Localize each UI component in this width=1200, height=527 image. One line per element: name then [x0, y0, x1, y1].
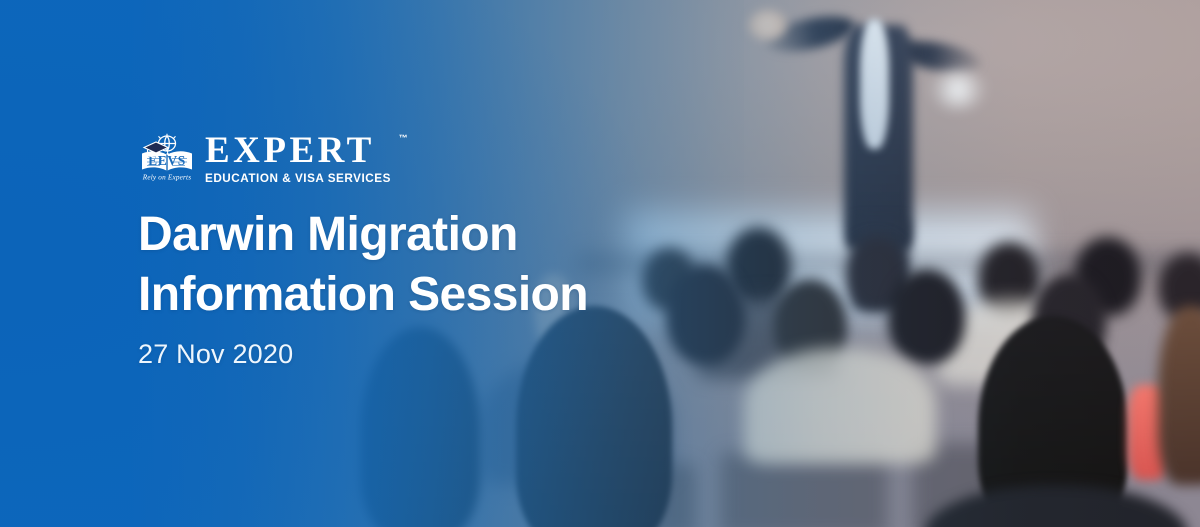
brand-name: EXPERT	[205, 133, 399, 169]
title-line-1: Darwin Migration	[138, 205, 588, 265]
brand-tagline: EDUCATION & VISA SERVICES	[205, 171, 391, 185]
emblem-tagline-text: Rely on Experts	[142, 174, 192, 182]
event-date: 27 Nov 2020	[138, 337, 293, 371]
event-hero-banner: EEVS Rely on Experts EXPERT ™ EDU	[0, 0, 1200, 527]
title-line-2: Information Session	[138, 265, 588, 325]
banner-content: EEVS Rely on Experts EXPERT ™ EDU	[138, 0, 778, 527]
page-title: Darwin Migration Information Session	[138, 205, 588, 325]
eevs-emblem-icon: EEVS Rely on Experts	[138, 133, 196, 183]
brand-wordmark: EXPERT ™ EDUCATION & VISA SERVICES	[205, 131, 399, 185]
trademark-symbol: ™	[399, 133, 408, 143]
svg-text:EEVS: EEVS	[148, 153, 186, 168]
brand-logo[interactable]: EEVS Rely on Experts EXPERT ™ EDU	[138, 131, 399, 185]
